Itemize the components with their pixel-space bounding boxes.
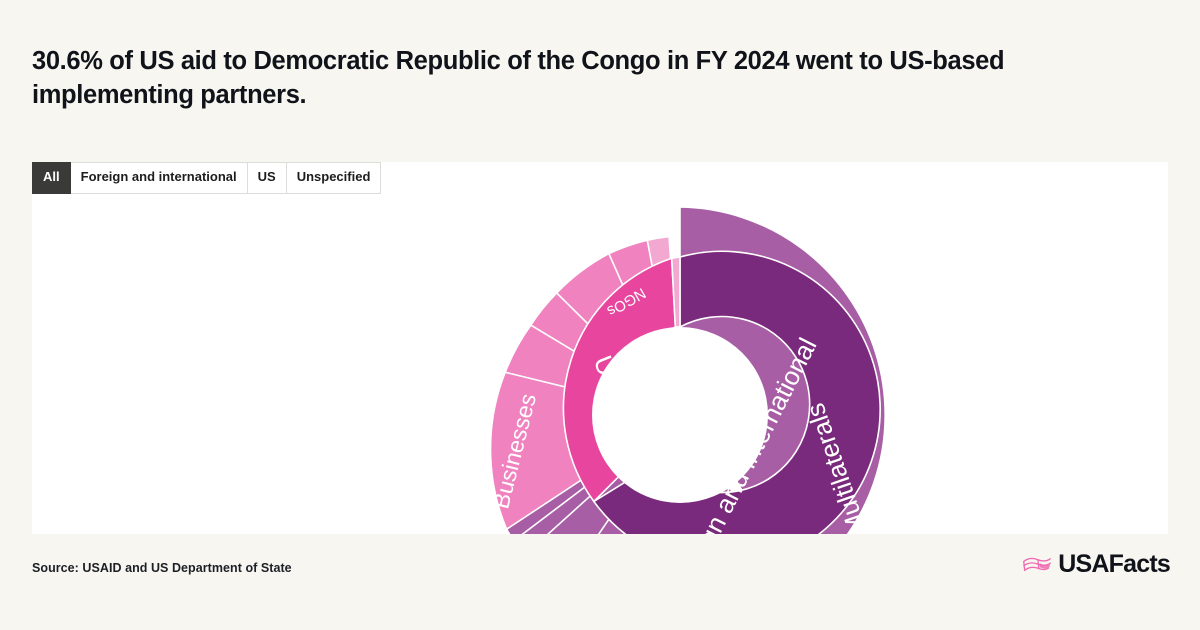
tab-all[interactable]: All [32, 162, 71, 194]
chart-panel: All Foreign and international US Unspeci… [32, 162, 1168, 534]
sunburst-svg[interactable]: Multilaterals NGOs Businesses NGOs Forei… [430, 165, 930, 534]
sunburst-chart: Multilaterals NGOs Businesses NGOs Forei… [32, 162, 1168, 534]
tab-unspecified[interactable]: Unspecified [287, 162, 382, 194]
page-title: 30.6% of US aid to Democratic Republic o… [32, 0, 1162, 112]
tab-foreign-and-international[interactable]: Foreign and international [71, 162, 248, 194]
brand-name: USAFacts [1058, 552, 1170, 577]
filter-tab-group[interactable]: All Foreign and international US Unspeci… [32, 162, 381, 194]
tab-us[interactable]: US [248, 162, 287, 194]
brand-logo: USAFacts [1022, 552, 1170, 577]
infographic-page: 30.6% of US aid to Democratic Republic o… [0, 0, 1200, 630]
source-note: Source: USAID and US Department of State [32, 561, 292, 575]
usafacts-flag-icon [1022, 555, 1052, 575]
